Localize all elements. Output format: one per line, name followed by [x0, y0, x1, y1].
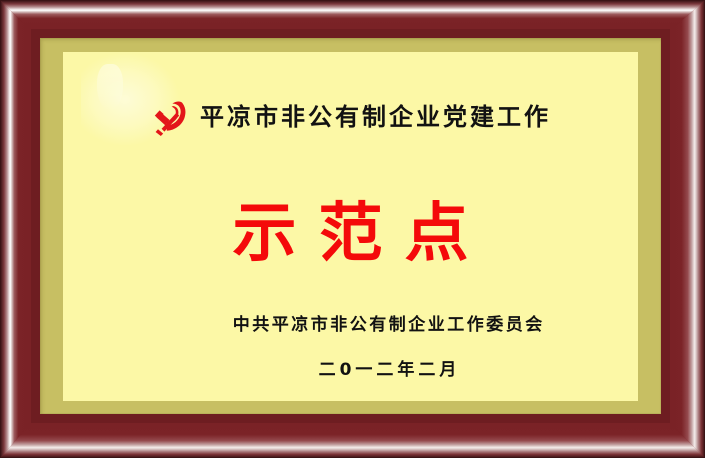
- plaque-headline: 示范点: [63, 202, 638, 266]
- plaque-content: 平凉市非公有制企业党建工作 示范点 中共平凉市非公有制企业工作委员会 二0一二年…: [63, 52, 638, 401]
- frame-bevel-top: [1, 1, 704, 31]
- frame-bevel-left: [1, 1, 31, 457]
- issue-date: 二0一二年二月: [63, 355, 638, 380]
- plaque-panel: 平凉市非公有制企业党建工作 示范点 中共平凉市非公有制企业工作委员会 二0一二年…: [63, 52, 638, 401]
- title-row: 平凉市非公有制企业党建工作: [63, 96, 638, 138]
- award-plaque: 平凉市非公有制企业党建工作 示范点 中共平凉市非公有制企业工作委员会 二0一二年…: [0, 0, 705, 458]
- frame-bevel-bottom: [1, 423, 704, 457]
- cpc-hammer-and-sickle-icon: [150, 98, 190, 138]
- frame-bevel-right: [670, 1, 704, 457]
- plaque-title: 平凉市非公有制企业党建工作: [200, 105, 551, 129]
- issuing-organization: 中共平凉市非公有制企业工作委员会: [63, 310, 638, 335]
